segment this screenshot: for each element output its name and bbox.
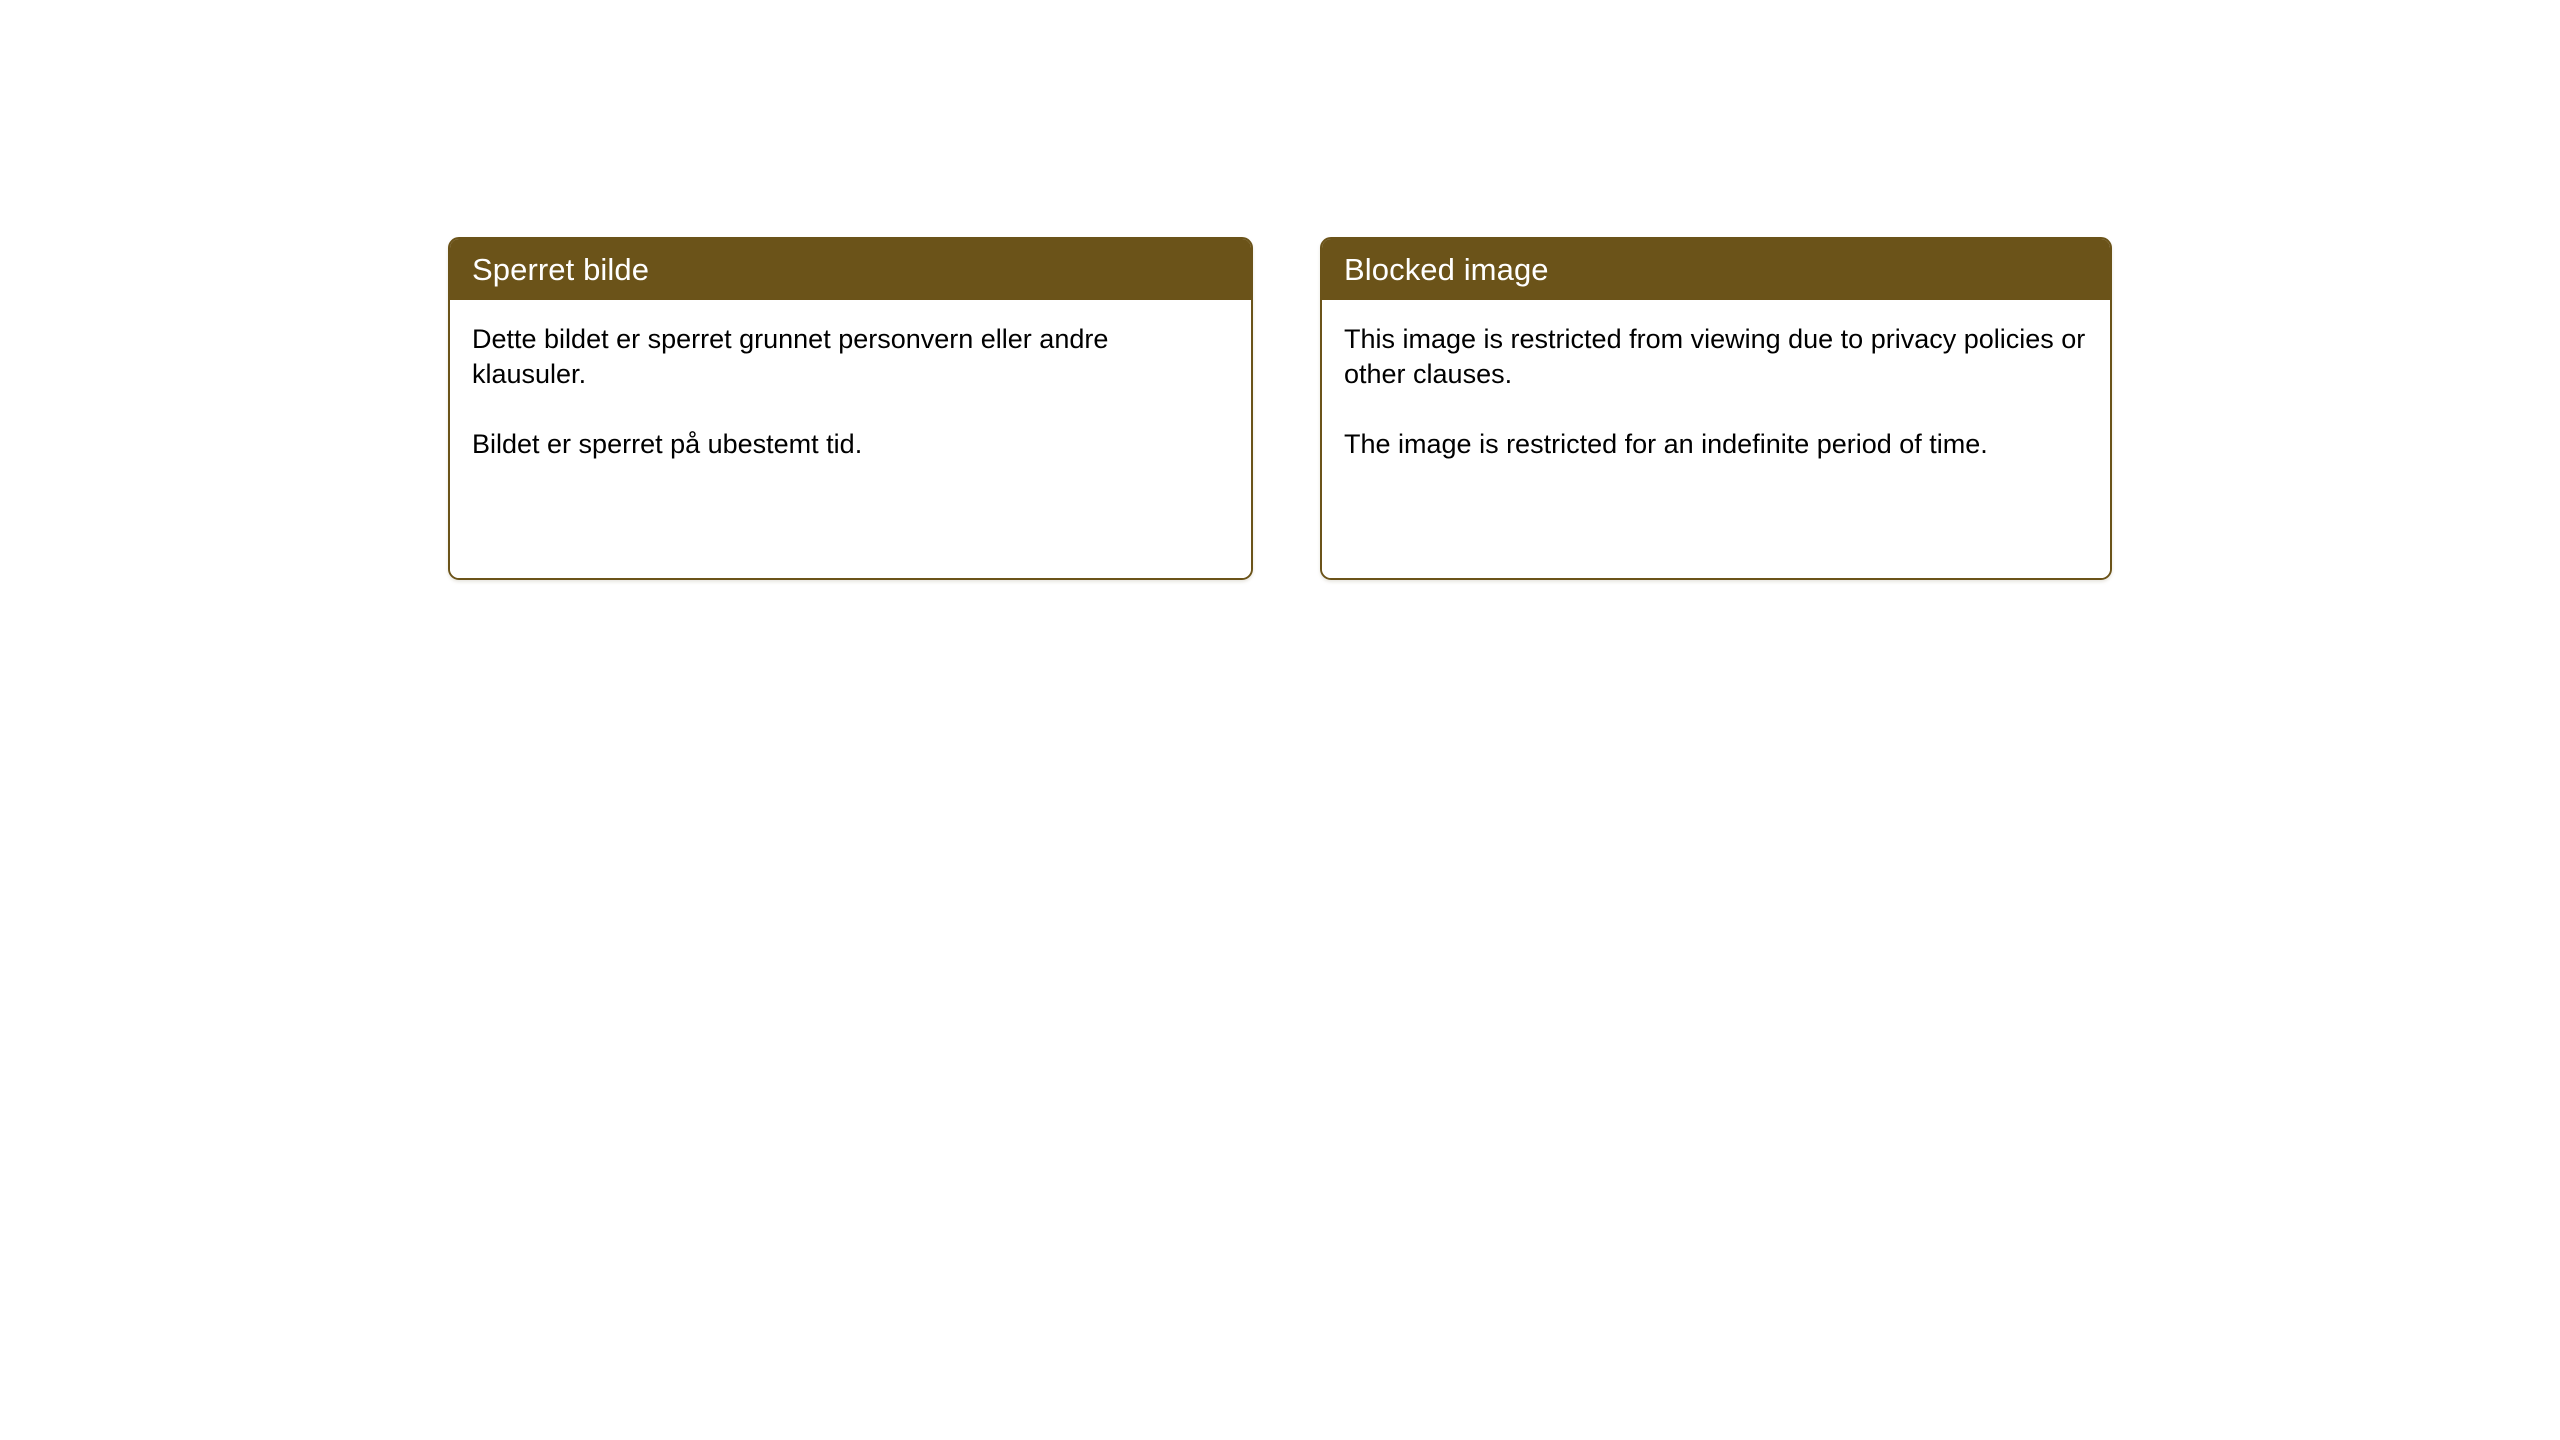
card-title-english: Blocked image	[1344, 254, 1549, 285]
blocked-image-card-norwegian: Sperret bilde Dette bildet er sperret gr…	[448, 237, 1253, 580]
card-body-english: This image is restricted from viewing du…	[1322, 300, 2110, 578]
card-paragraph-english-2: The image is restricted for an indefinit…	[1344, 427, 2086, 462]
page-root: Sperret bilde Dette bildet er sperret gr…	[0, 0, 2560, 1440]
card-header-english: Blocked image	[1322, 239, 2110, 300]
blocked-image-card-english: Blocked image This image is restricted f…	[1320, 237, 2112, 580]
card-paragraph-norwegian-1: Dette bildet er sperret grunnet personve…	[472, 322, 1227, 392]
blocked-image-notice-group: Sperret bilde Dette bildet er sperret gr…	[448, 237, 2112, 580]
card-paragraph-english-1: This image is restricted from viewing du…	[1344, 322, 2086, 392]
card-body-norwegian: Dette bildet er sperret grunnet personve…	[450, 300, 1251, 578]
card-paragraph-norwegian-2: Bildet er sperret på ubestemt tid.	[472, 427, 1227, 462]
card-title-norwegian: Sperret bilde	[472, 254, 649, 285]
card-header-norwegian: Sperret bilde	[450, 239, 1251, 300]
